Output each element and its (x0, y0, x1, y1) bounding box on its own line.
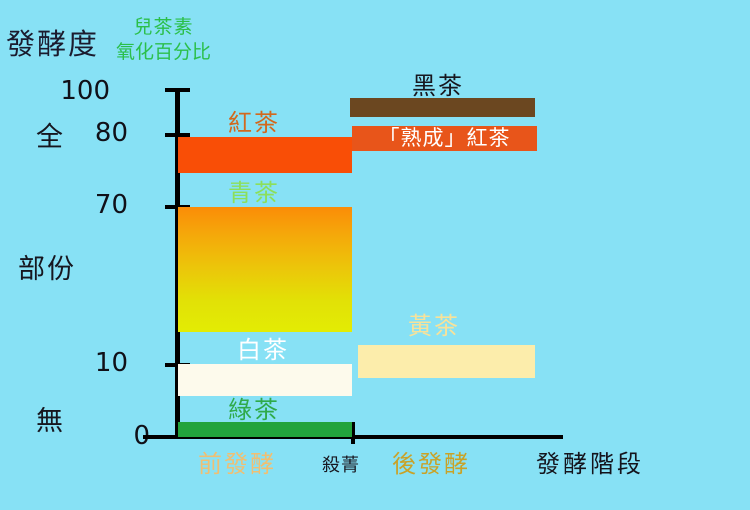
y-tick-label-70: 70 (68, 192, 128, 218)
ripened-black-tea-label: 「熟成」紅茶 (352, 126, 537, 151)
y-category-full: 全 (36, 124, 65, 151)
bar-oolong-tea (178, 207, 352, 332)
bar-dark-tea (350, 98, 535, 117)
bar-green-tea (178, 422, 352, 437)
catechin-title-line-1: 兒茶素 (116, 18, 211, 37)
ripened-black-tea-label-box: 「熟成」紅茶 (352, 126, 537, 151)
y-category-partial: 部份 (18, 256, 76, 283)
label-yellow-tea: 黃茶 (408, 314, 460, 338)
x-axis-title: 發酵階段 (536, 452, 644, 476)
tea-fermentation-chart: 發酵度 兒茶素 氧化百分比 全 部份 無 100 80 70 10 0 「熟成」… (0, 0, 750, 510)
label-white-tea: 白茶 (237, 338, 289, 362)
bar-white-tea (178, 364, 352, 396)
y-axis-title-catechin-oxidation: 兒茶素 氧化百分比 (116, 18, 211, 62)
x-stage-post-fermentation: 後發酵 (392, 452, 470, 476)
label-oolong-tea: 青茶 (228, 181, 280, 205)
y-category-none: 無 (36, 408, 65, 435)
y-tick-label-10: 10 (68, 350, 128, 376)
label-dark-tea: 黑茶 (412, 74, 464, 98)
y-axis-title-fermentation-degree: 發酵度 (6, 30, 99, 59)
x-stage-pre-fermentation: 前發酵 (198, 452, 276, 476)
label-green-tea: 綠茶 (228, 398, 280, 422)
catechin-title-line-2: 氧化百分比 (116, 43, 211, 62)
bar-yellow-tea (358, 345, 535, 378)
bar-black-tea (178, 137, 352, 173)
y-tick-label-100: 100 (50, 78, 110, 104)
y-tick-label-80: 80 (68, 120, 128, 146)
y-tick-mark-100 (165, 88, 190, 92)
y-tick-label-0: 0 (90, 423, 150, 449)
x-stage-kill-green: 殺菁 (322, 457, 360, 475)
label-black-tea: 紅茶 (228, 111, 280, 135)
